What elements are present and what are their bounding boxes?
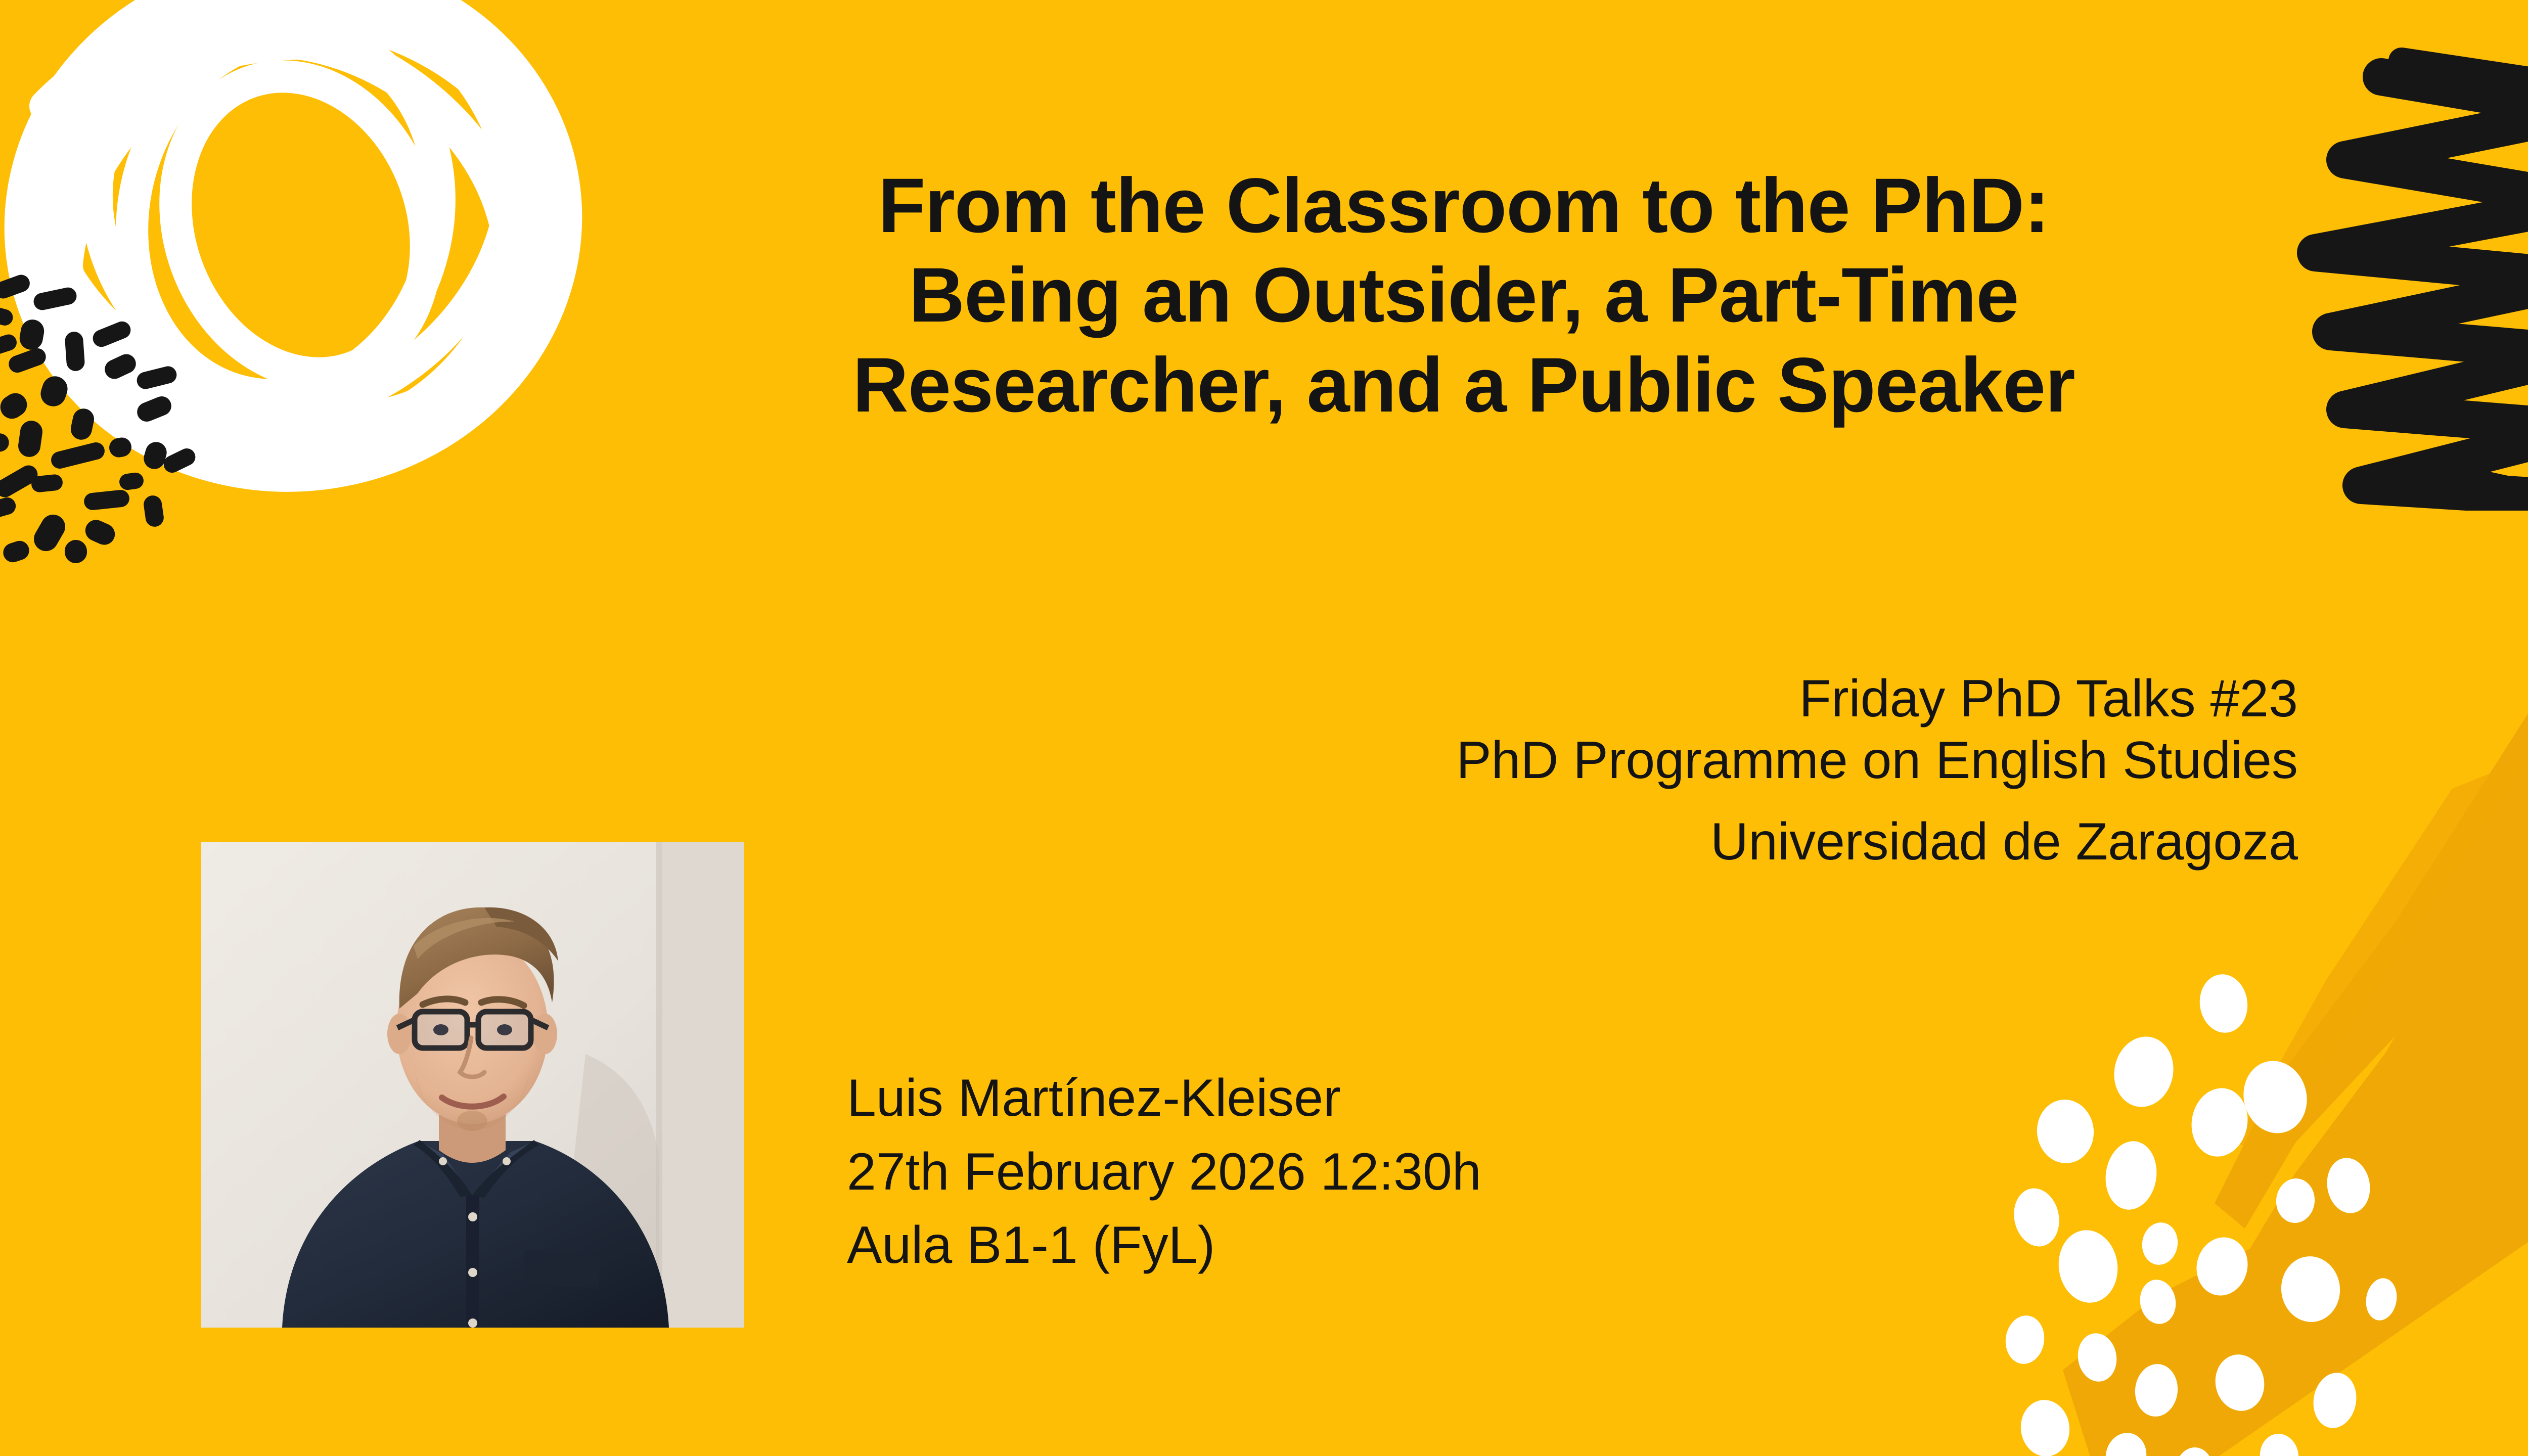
event-info: Friday PhD Talks #23 PhD Programme on En… — [1456, 668, 2298, 873]
grain-dashes-icon — [0, 273, 217, 637]
title-line-3: Researcher, and a Public Speaker — [718, 340, 2209, 430]
talk-details: Luis Martínez-Kleiser 27th February 2026… — [847, 1062, 1481, 1283]
zigzag-scribble-icon — [2280, 40, 2528, 511]
poster-title: From the Classroom to the PhD: Being an … — [718, 161, 2209, 430]
speaker-photo — [201, 842, 744, 1328]
programme-label: PhD Programme on English Studies — [1456, 730, 2298, 792]
title-line-2: Being an Outsider, a Part-Time — [718, 250, 2209, 340]
scribble-circle-icon — [0, 0, 627, 546]
talk-series-label: Friday PhD Talks #23 — [1456, 668, 2298, 730]
title-line-1: From the Classroom to the PhD: — [718, 161, 2209, 250]
speaker-name: Luis Martínez-Kleiser — [847, 1062, 1481, 1135]
speaker-portrait-image — [201, 842, 744, 1328]
poster-canvas: From the Classroom to the PhD: Being an … — [0, 0, 2528, 1456]
talk-datetime: 27th February 2026 12:30h — [847, 1135, 1481, 1209]
confetti-dots-icon — [1972, 971, 2528, 1456]
talk-venue: Aula B1-1 (FyL) — [847, 1209, 1481, 1283]
institution-label: Universidad de Zaragoza — [1456, 811, 2298, 873]
